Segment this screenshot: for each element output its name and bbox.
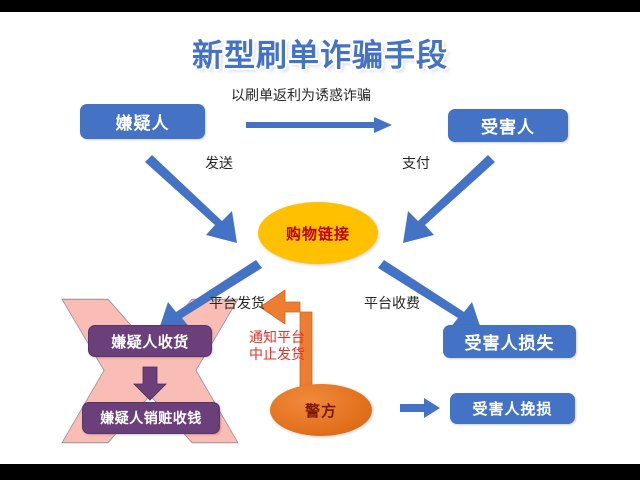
node-shopping-link[interactable]: 购物链接 (258, 202, 378, 264)
edge-label-send: 发送 (205, 153, 233, 173)
diagram-canvas: 新型刷单诈骗手段 (0, 12, 640, 464)
screenshot-stage: 新型刷单诈骗手段 (0, 0, 640, 480)
node-shopping-link-label: 购物链接 (286, 223, 350, 244)
node-suspect-label: 嫌疑人 (116, 109, 170, 134)
node-victim-loss[interactable]: 受害人损失 (443, 325, 576, 358)
edge-label-platform-fee: 平台收费 (364, 293, 420, 313)
node-suspect-fence-label: 嫌疑人销赃收钱 (100, 408, 202, 428)
node-victim-loss-label: 受害人损失 (465, 329, 555, 354)
node-suspect-fence[interactable]: 嫌疑人销赃收钱 (82, 402, 220, 434)
node-victim[interactable]: 受害人 (448, 109, 568, 142)
edge-label-stop-shipment: 中止发货 (249, 347, 305, 364)
arrow-lure (246, 117, 392, 133)
node-suspect-receive-label: 嫌疑人收货 (111, 331, 189, 352)
edge-label-notify-platform: 通知平台 (249, 330, 305, 347)
node-police[interactable]: 警方 (270, 384, 372, 436)
node-victim-recover[interactable]: 受害人挽损 (450, 393, 575, 424)
arrow-to-victim-recover (400, 398, 440, 418)
node-suspect-receive[interactable]: 嫌疑人收货 (88, 325, 212, 357)
node-police-label: 警方 (305, 400, 337, 421)
node-victim-label: 受害人 (481, 113, 535, 138)
node-victim-recover-label: 受害人挽损 (472, 398, 552, 419)
node-suspect[interactable]: 嫌疑人 (80, 104, 205, 139)
edge-label-lure: 以刷单返利为诱惑诈骗 (231, 85, 371, 105)
edge-label-pay: 支付 (402, 153, 430, 173)
edge-label-platform-ship: 平台发货 (209, 293, 265, 313)
